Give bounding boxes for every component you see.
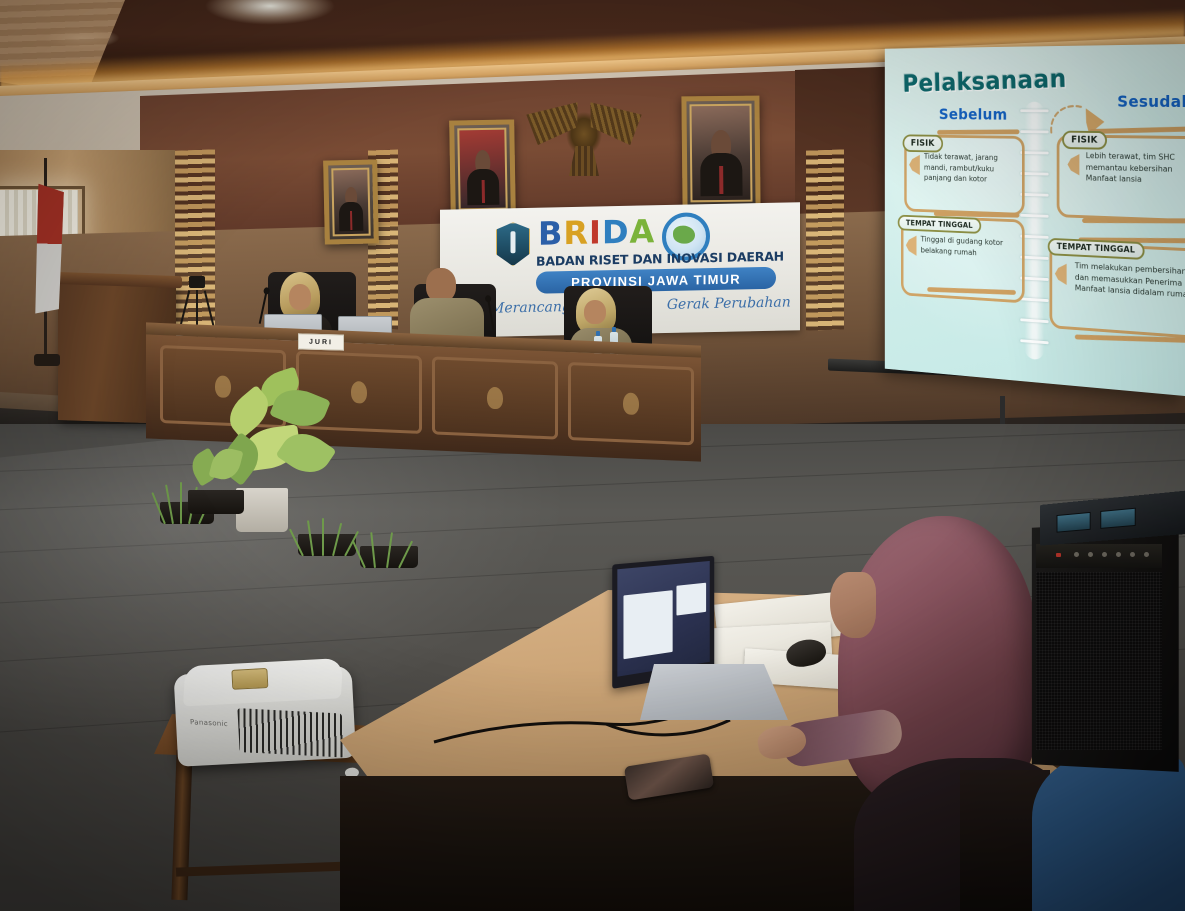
foreground-figure-blue (1032, 756, 1185, 911)
potted-plant (182, 448, 252, 514)
slide-card-tag: FISIK (1062, 131, 1107, 150)
tagline-right: Gerak Perubahan (667, 294, 791, 313)
governor-portrait (323, 159, 379, 244)
projector-lens (231, 668, 268, 690)
jawa-timur-provincial-emblem (496, 222, 530, 267)
potted-plant (350, 510, 430, 568)
slide-card-body: Lebih terawat, tim SHC memantau kebersih… (1086, 150, 1185, 187)
garuda-pancasila-emblem (525, 100, 643, 172)
brida-letter-b: B (538, 214, 563, 253)
projection-screen: Pelaksanaan Sebelum Sesudah FISIK Tidak … (885, 44, 1185, 396)
vice-president-portrait (681, 96, 760, 211)
indonesian-flag (30, 158, 64, 358)
face (830, 572, 876, 638)
slide-spiral-divider (1025, 102, 1045, 360)
tagline-left: Merancang (490, 299, 571, 317)
receiver-display (1100, 508, 1135, 529)
presenter-laptop[interactable] (612, 560, 780, 730)
slide-heading-sebelum: Sebelum (939, 105, 1008, 123)
brida-letter-r: R (563, 214, 589, 253)
juri-nameplate: JURI (298, 333, 344, 350)
brida-acronym: BRIDA (538, 215, 655, 249)
speaker-control-panel (1036, 544, 1162, 568)
card-accent-bar (937, 129, 1019, 134)
speaker-grille (1036, 572, 1162, 750)
president-portrait (449, 119, 516, 218)
laptop-keyboard[interactable] (640, 664, 788, 720)
brida-letter-a: A (630, 212, 656, 251)
slide-card-body: Tidak terawat, jarang mandi, rambut/kuku… (924, 151, 1012, 186)
panasonic-projector: Panasonic (173, 655, 363, 782)
power-led-icon (1056, 553, 1061, 557)
card-accent-bar (1082, 218, 1185, 223)
batik-panel (806, 149, 844, 330)
slide-heading-sesudah: Sesudah (1117, 92, 1185, 111)
slide-title: Pelaksanaan (902, 65, 1067, 99)
projector-vent (237, 708, 344, 757)
brida-letter-d: D (602, 213, 630, 252)
conference-hall-photo: BRIDA BADAN RISET DAN INOVASI DAERAH PRO… (0, 0, 1185, 911)
slide-card-tag: FISIK (903, 134, 943, 152)
brida-letter-i: I (589, 213, 602, 251)
receiver-display (1057, 512, 1091, 533)
laptop-screen (617, 561, 709, 677)
